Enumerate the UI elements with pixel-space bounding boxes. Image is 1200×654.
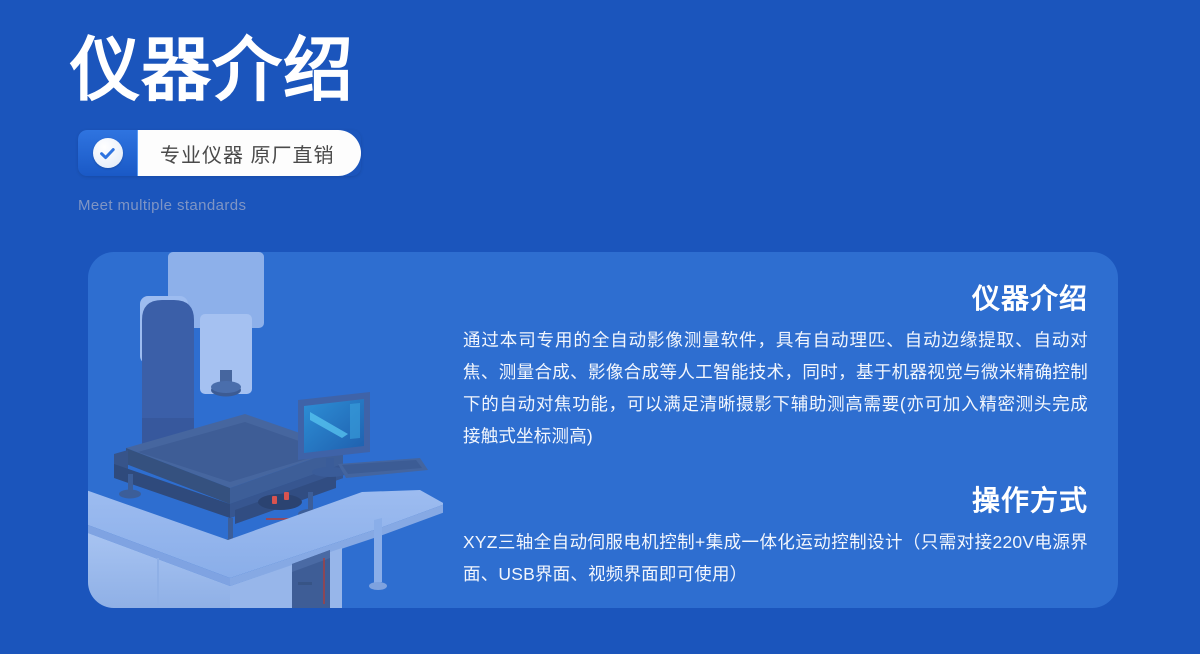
section-body-instrument-intro: 通过本司专用的全自动影像测量软件，具有自动理匹、自动边缘提取、自动对焦、测量合成…	[463, 324, 1088, 452]
badge-label: 专业仪器 原厂直销	[160, 139, 335, 168]
section-title-instrument-intro: 仪器介绍	[463, 282, 1088, 316]
machine-image-container	[88, 252, 443, 608]
check-circle-icon	[93, 138, 123, 168]
content-card: 仪器介绍 通过本司专用的全自动影像测量软件，具有自动理匹、自动边缘提取、自动对焦…	[88, 252, 1118, 608]
badge-text-container: 专业仪器 原厂直销	[138, 130, 361, 176]
page-header: 仪器介绍 专业仪器 原厂直销 Meet multiple standards	[70, 30, 590, 110]
page-subtitle: Meet multiple standards	[78, 197, 246, 214]
badge-icon-container	[78, 130, 138, 176]
certification-badge: 专业仪器 原厂直销	[78, 130, 361, 176]
section-title-operation-mode: 操作方式	[463, 484, 1088, 518]
card-text-column: 仪器介绍 通过本司专用的全自动影像测量软件，具有自动理匹、自动边缘提取、自动对焦…	[463, 252, 1118, 608]
vision-measuring-machine-illustration	[88, 252, 443, 608]
page-title: 仪器介绍	[70, 30, 590, 110]
section-body-operation-mode: XYZ三轴全自动伺服电机控制+集成一体化运动控制设计（只需对接220V电源界面、…	[463, 526, 1088, 590]
